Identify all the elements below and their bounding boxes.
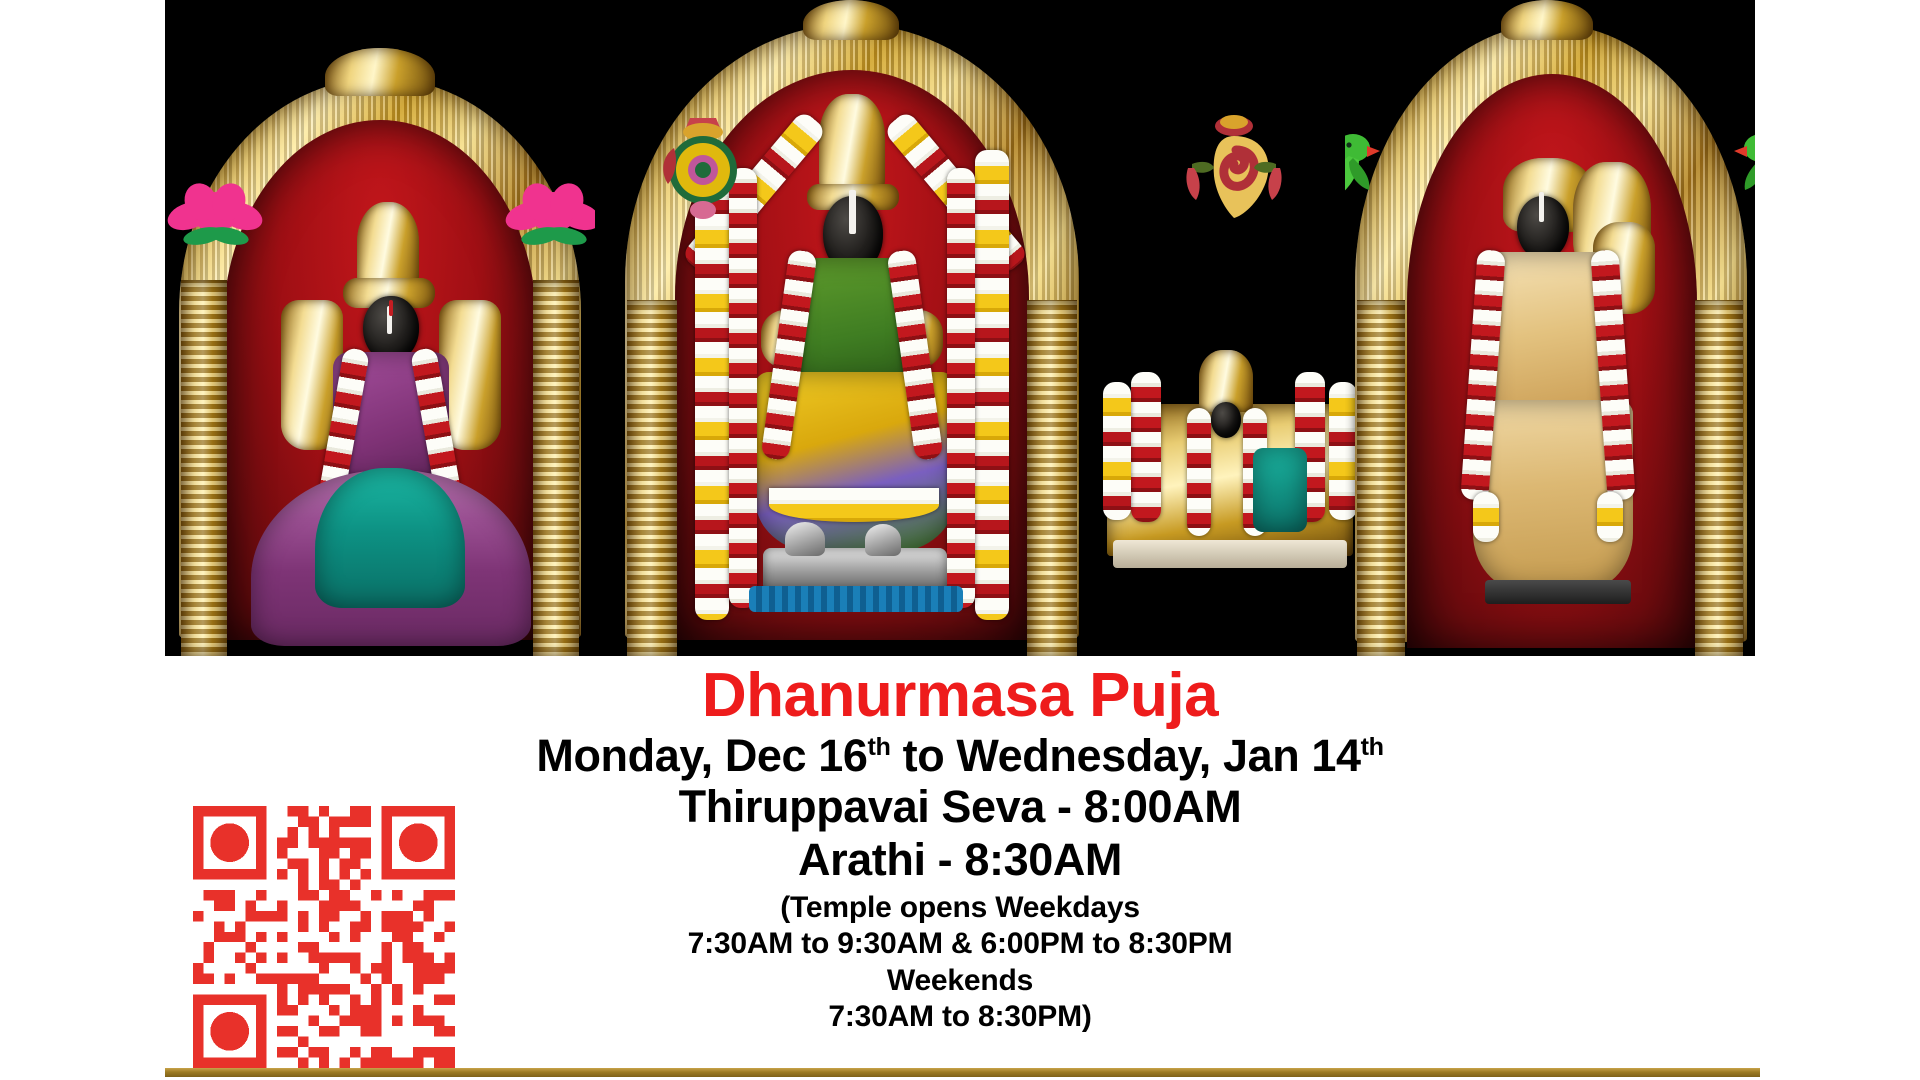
bottom-divider bbox=[165, 1068, 1760, 1077]
chakra-symbol-icon bbox=[650, 108, 756, 224]
date-range-end-ordinal: th bbox=[1361, 733, 1384, 761]
utsava-group bbox=[1095, 0, 1365, 656]
qr-code[interactable] bbox=[184, 806, 464, 1068]
date-range-start: Monday, Dec 16 bbox=[536, 730, 867, 781]
event-date-range: Monday, Dec 16th to Wednesday, Jan 14th bbox=[0, 732, 1920, 780]
date-range-connector: to bbox=[891, 730, 957, 781]
date-range-end: Wednesday, Jan 14 bbox=[956, 730, 1360, 781]
green-parrot-right-icon bbox=[1709, 128, 1755, 200]
deity-crown bbox=[357, 202, 419, 288]
pink-lotus-left-icon bbox=[167, 178, 263, 246]
blue-cloth bbox=[749, 586, 963, 612]
page-title: Dhanurmasa Puja bbox=[0, 656, 1920, 727]
pink-lotus-right-icon bbox=[505, 178, 595, 246]
shankha-symbol-icon bbox=[1180, 106, 1288, 224]
temple-deities-photo bbox=[165, 0, 1755, 656]
arch-crest bbox=[325, 48, 435, 96]
date-range-start-ordinal: th bbox=[868, 733, 891, 761]
left-shrine bbox=[165, 0, 595, 656]
qr-code-matrix bbox=[184, 806, 464, 1068]
green-parrot-left-icon bbox=[1345, 128, 1405, 200]
right-shrine bbox=[1345, 0, 1755, 656]
center-shrine bbox=[617, 0, 1087, 656]
